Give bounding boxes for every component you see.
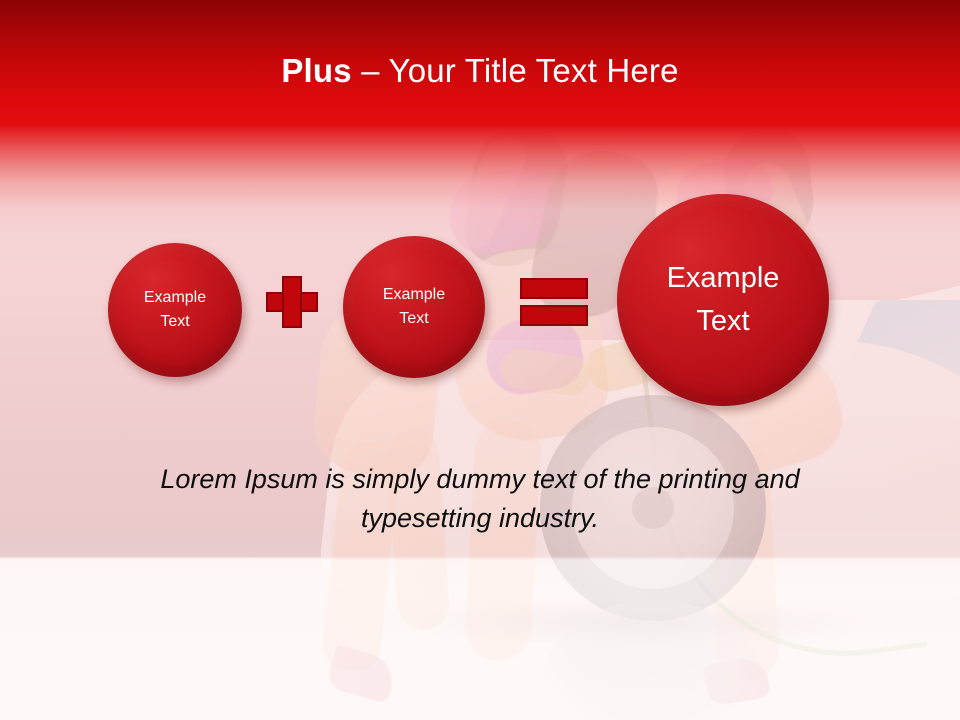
page-title-lead: Plus: [281, 52, 352, 89]
equals-icon-bottom-bar: [520, 305, 588, 326]
diagram-node-1-label: Example Text: [134, 286, 216, 334]
diagram-node-2-label: Example Text: [373, 283, 455, 331]
diagram-node-1[interactable]: Example Text: [108, 243, 242, 377]
plus-icon: [266, 276, 318, 328]
equals-icon-top-bar: [520, 278, 588, 299]
diagram-node-1-line-1: Example: [144, 289, 206, 306]
diagram-node-3-line-1: Example: [667, 262, 780, 294]
page-title: Plus – Your Title Text Here: [0, 52, 960, 90]
equals-icon: [520, 278, 588, 326]
slide-canvas: Plus – Your Title Text Here Example Text…: [0, 0, 960, 720]
diagram-node-3[interactable]: Example Text: [617, 194, 829, 406]
diagram-node-2-line-1: Example: [383, 286, 445, 303]
diagram-node-2[interactable]: Example Text: [343, 236, 485, 378]
plus-icon-center: [284, 294, 300, 310]
diagram-node-2-line-2: Text: [399, 310, 428, 327]
diagram-node-3-line-2: Text: [696, 305, 749, 337]
diagram-node-1-line-2: Text: [160, 313, 189, 330]
page-title-rest: – Your Title Text Here: [352, 52, 679, 89]
diagram-node-3-label: Example Text: [657, 257, 790, 343]
body-text: Lorem Ipsum is simply dummy text of the …: [120, 460, 840, 538]
